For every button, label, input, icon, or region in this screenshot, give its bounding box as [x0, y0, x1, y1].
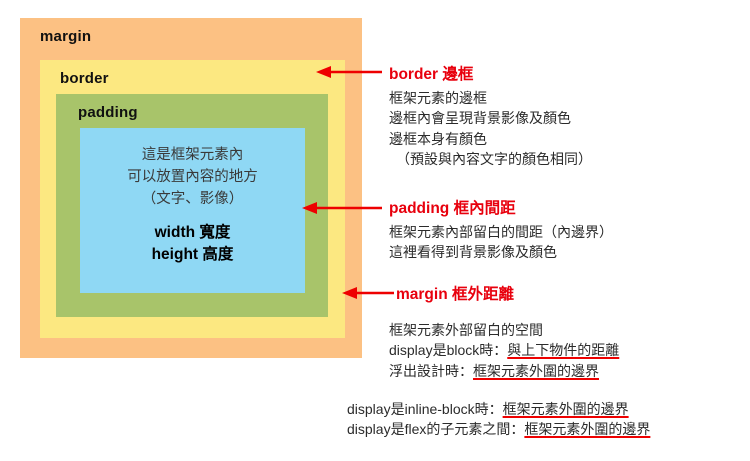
callout-body-border: 框架元素的邊框 邊框內會呈現背景影像及顏色 邊框本身有顏色 （預設與內容文字的顏… [389, 88, 592, 169]
width-label: width 寬度 [80, 222, 305, 244]
padding-arrow-icon [300, 200, 384, 216]
margin-block-prefix: display是block時： [389, 342, 507, 358]
margin-float-prefix: 浮出設計時： [389, 363, 473, 379]
callout-padding-line-1: 框架元素內部留白的間距（內邊界） [389, 222, 613, 242]
padding-label: padding [78, 104, 138, 121]
callout-title-padding: padding 框內間距 [389, 196, 516, 218]
content-line-3: （文字、影像） [80, 188, 305, 210]
margin-inline-underlined: 框架元素外圍的邊界 [503, 401, 629, 417]
callout-margin-line-float: 浮出設計時：框架元素外圍的邊界 [389, 361, 619, 381]
callout-border-line-3: 邊框本身有顏色 [389, 129, 592, 149]
margin-arrow-icon [340, 285, 396, 301]
content-layer: 這是框架元素內 可以放置內容的地方 （文字、影像） width 寬度 heigh… [80, 128, 305, 293]
callout-margin-line-flex: display是flex的子元素之間：框架元素外圍的邊界 [347, 419, 650, 439]
box-model-diagram: margin border padding 這是框架元素內 可以放置內容的地方 … [20, 18, 362, 358]
callout-border-line-4: （預設與內容文字的顏色相同） [389, 149, 592, 169]
callout-border-line-1: 框架元素的邊框 [389, 88, 592, 108]
content-line-2: 可以放置內容的地方 [80, 166, 305, 188]
content-dimensions: width 寬度 height 高度 [80, 222, 305, 266]
callout-body-padding: 框架元素內部留白的間距（內邊界） 這裡看得到背景影像及顏色 [389, 222, 613, 263]
callout-body-margin: 框架元素外部留白的空間 display是block時：與上下物件的距離 浮出設計… [389, 320, 619, 381]
callout-border-line-2: 邊框內會呈現背景影像及顏色 [389, 108, 592, 128]
content-line-1: 這是框架元素內 [80, 144, 305, 166]
margin-flex-prefix: display是flex的子元素之間： [347, 421, 524, 437]
callout-padding-line-2: 這裡看得到背景影像及顏色 [389, 242, 613, 262]
border-arrow-icon [314, 64, 384, 80]
content-description: 這是框架元素內 可以放置內容的地方 （文字、影像） [80, 144, 305, 210]
callout-margin-line-block: display是block時：與上下物件的距離 [389, 340, 619, 360]
callout-margin-line-inline: display是inline-block時：框架元素外圍的邊界 [347, 399, 650, 419]
callout-title-border: border 邊框 [389, 62, 473, 84]
margin-flex-underlined: 框架元素外圍的邊界 [524, 421, 650, 437]
border-label: border [60, 70, 109, 87]
margin-inline-prefix: display是inline-block時： [347, 401, 503, 417]
margin-float-underlined: 框架元素外圍的邊界 [473, 363, 599, 379]
margin-block-underlined: 與上下物件的距離 [507, 342, 619, 358]
callout-title-margin: margin 框外距離 [396, 282, 514, 304]
margin-label: margin [40, 28, 91, 45]
height-label: height 高度 [80, 244, 305, 266]
callout-margin-line-1: 框架元素外部留白的空間 [389, 320, 619, 340]
margin-extra-lines: display是inline-block時：框架元素外圍的邊界 display是… [347, 399, 650, 440]
